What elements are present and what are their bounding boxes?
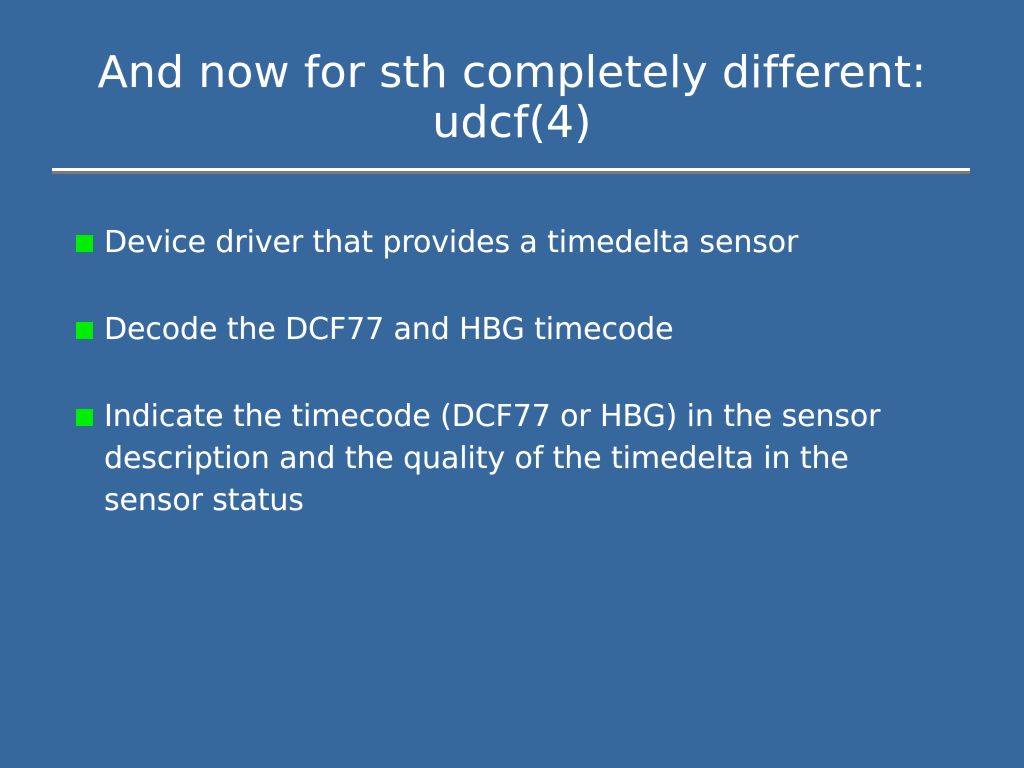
list-item-label: Device driver that provides a timedelta … — [104, 222, 956, 264]
presentation-slide: And now for sth completely different: ud… — [0, 0, 1024, 768]
list-item: Device driver that provides a timedelta … — [76, 222, 956, 264]
title-divider-rule — [52, 168, 970, 174]
page-title: And now for sth completely different: ud… — [52, 48, 972, 148]
list-item: Indicate the timecode (DCF77 or HBG) in … — [76, 396, 956, 522]
list-item-label: Decode the DCF77 and HBG timecode — [104, 309, 956, 351]
slide-title-block: And now for sth completely different: ud… — [52, 48, 972, 148]
divider-shadow-line — [52, 171, 970, 174]
green-square-bullet-icon — [76, 409, 93, 426]
green-square-bullet-icon — [76, 322, 93, 339]
list-item-label: Indicate the timecode (DCF77 or HBG) in … — [104, 396, 934, 522]
list-item: Decode the DCF77 and HBG timecode — [76, 309, 956, 351]
slide-bullet-list: Device driver that provides a timedelta … — [76, 222, 956, 522]
green-square-bullet-icon — [76, 235, 93, 252]
